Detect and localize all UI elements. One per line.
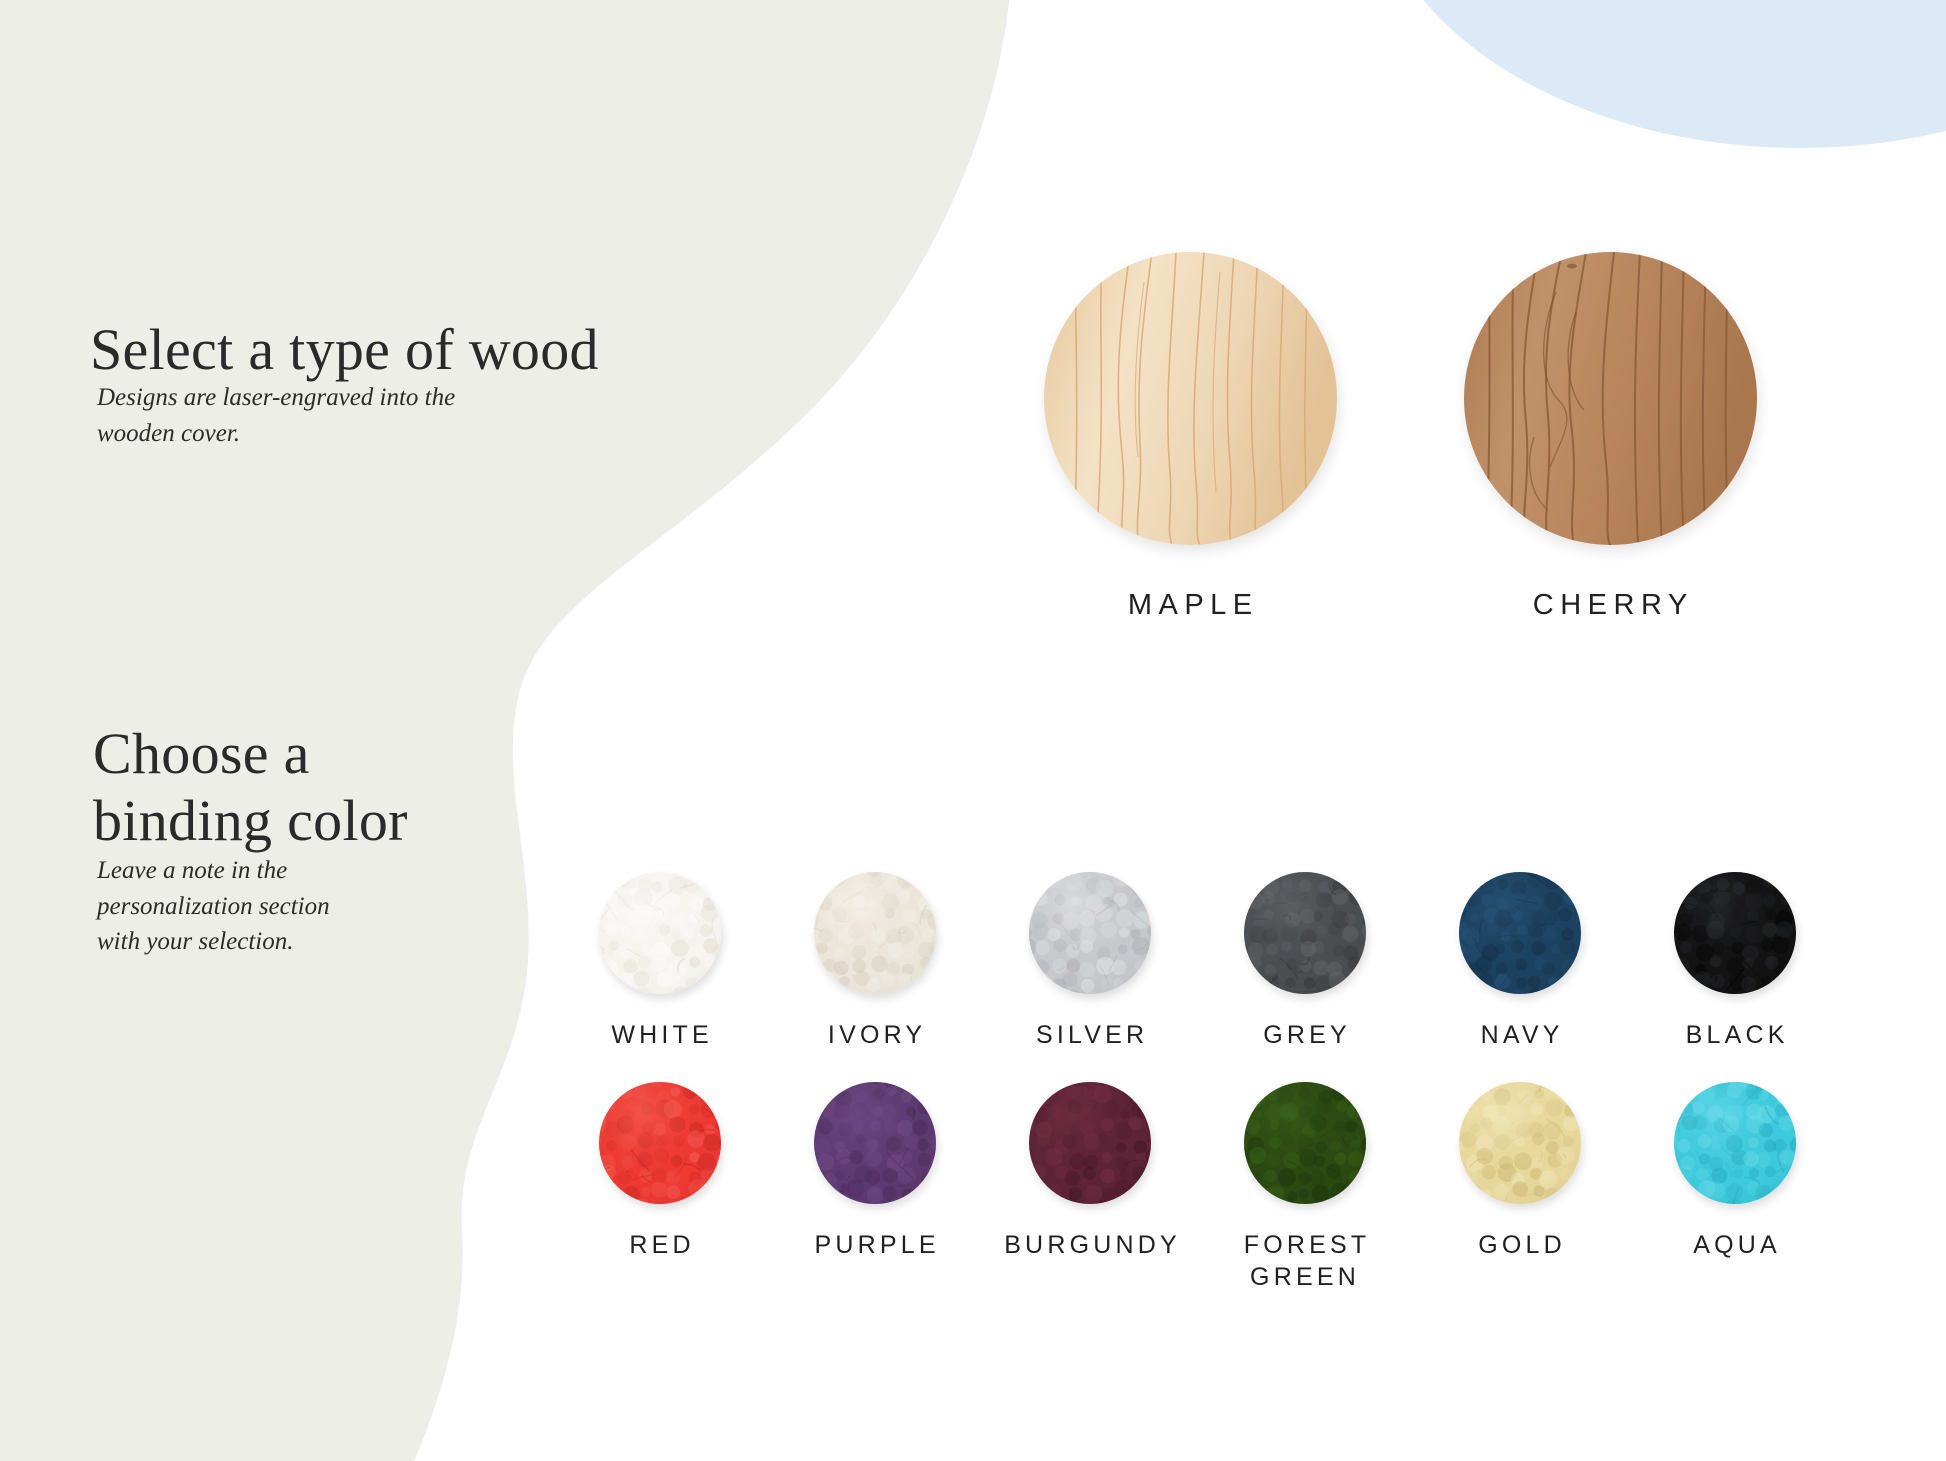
leather-texture [1459, 1082, 1581, 1204]
black-label: BLACK [1645, 1019, 1825, 1051]
leather-texture [1244, 872, 1366, 994]
binding-color-red[interactable]: RED [570, 1082, 750, 1261]
wood-option-list: MAPLE [1020, 252, 1820, 672]
binding-color-forest-green[interactable]: FOREST GREEN [1215, 1082, 1395, 1293]
binding-color-silver[interactable]: SILVER [1000, 872, 1180, 1051]
purple-leather-swatch[interactable] [814, 1082, 936, 1204]
maple-wood-swatch[interactable] [1044, 252, 1337, 545]
grey-label: GREY [1215, 1019, 1395, 1051]
binding-color-grey[interactable]: GREY [1215, 872, 1395, 1051]
binding-color-purple[interactable]: PURPLE [785, 1082, 965, 1261]
binding-color-black[interactable]: BLACK [1645, 872, 1825, 1051]
color-section-note: Leave a note in the personalization sect… [97, 853, 397, 960]
aqua-label: AQUA [1645, 1229, 1825, 1261]
binding-color-grid: WHITE IVORY SILVER GREY NAVY BLACK [556, 872, 1916, 1392]
cherry-label: CHERRY [1460, 589, 1760, 622]
navy-leather-swatch[interactable] [1459, 872, 1581, 994]
binding-color-aqua[interactable]: AQUA [1645, 1082, 1825, 1261]
binding-color-ivory[interactable]: IVORY [785, 872, 965, 1051]
burgundy-leather-swatch[interactable] [1029, 1082, 1151, 1204]
color-section-heading: Choose a binding color [93, 720, 523, 855]
silver-label: SILVER [1000, 1019, 1180, 1051]
burgundy-label: BURGUNDY [1000, 1229, 1180, 1261]
ivory-label: IVORY [785, 1019, 965, 1051]
leather-texture [1244, 1082, 1366, 1204]
forest-green-leather-swatch[interactable] [1244, 1082, 1366, 1204]
navy-label: NAVY [1430, 1019, 1610, 1051]
leather-texture [599, 872, 721, 994]
white-leather-swatch[interactable] [599, 872, 721, 994]
black-leather-swatch[interactable] [1674, 872, 1796, 994]
wood-section-heading: Select a type of wood [90, 316, 599, 383]
binding-color-row-2: RED PURPLE BURGUNDY FOREST GREEN GOLD AQ… [556, 1082, 1916, 1332]
wood-option-cherry[interactable]: CHERRY [1460, 252, 1760, 622]
maple-label: MAPLE [1040, 589, 1340, 622]
binding-color-navy[interactable]: NAVY [1430, 872, 1610, 1051]
wood-section-note: Designs are laser-engraved into the wood… [97, 380, 517, 451]
leather-texture [1029, 872, 1151, 994]
binding-color-burgundy[interactable]: BURGUNDY [1000, 1082, 1180, 1261]
gold-leather-swatch[interactable] [1459, 1082, 1581, 1204]
leather-texture [814, 1082, 936, 1204]
cherry-grain-texture [1464, 252, 1757, 545]
leather-texture [1674, 872, 1796, 994]
gold-label: GOLD [1430, 1229, 1610, 1261]
copy-column: Select a type of wood Designs are laser-… [0, 0, 640, 1461]
white-label: WHITE [570, 1019, 750, 1051]
grey-leather-swatch[interactable] [1244, 872, 1366, 994]
ivory-leather-swatch[interactable] [814, 872, 936, 994]
leather-texture [1459, 872, 1581, 994]
red-leather-swatch[interactable] [599, 1082, 721, 1204]
red-label: RED [570, 1229, 750, 1261]
leather-texture [1674, 1082, 1796, 1204]
wood-option-maple[interactable]: MAPLE [1040, 252, 1340, 622]
product-options-panel: Select a type of wood Designs are laser-… [0, 0, 1946, 1461]
maple-grain-texture [1044, 252, 1337, 545]
aqua-leather-swatch[interactable] [1674, 1082, 1796, 1204]
purple-label: PURPLE [785, 1229, 965, 1261]
silver-leather-swatch[interactable] [1029, 872, 1151, 994]
forest-green-label: FOREST GREEN [1215, 1229, 1395, 1293]
leather-texture [1029, 1082, 1151, 1204]
leather-texture [814, 872, 936, 994]
blue-accent-shape [1368, 0, 1946, 148]
cherry-wood-swatch[interactable] [1464, 252, 1757, 545]
binding-color-gold[interactable]: GOLD [1430, 1082, 1610, 1261]
leather-texture [599, 1082, 721, 1204]
binding-color-white[interactable]: WHITE [570, 872, 750, 1051]
